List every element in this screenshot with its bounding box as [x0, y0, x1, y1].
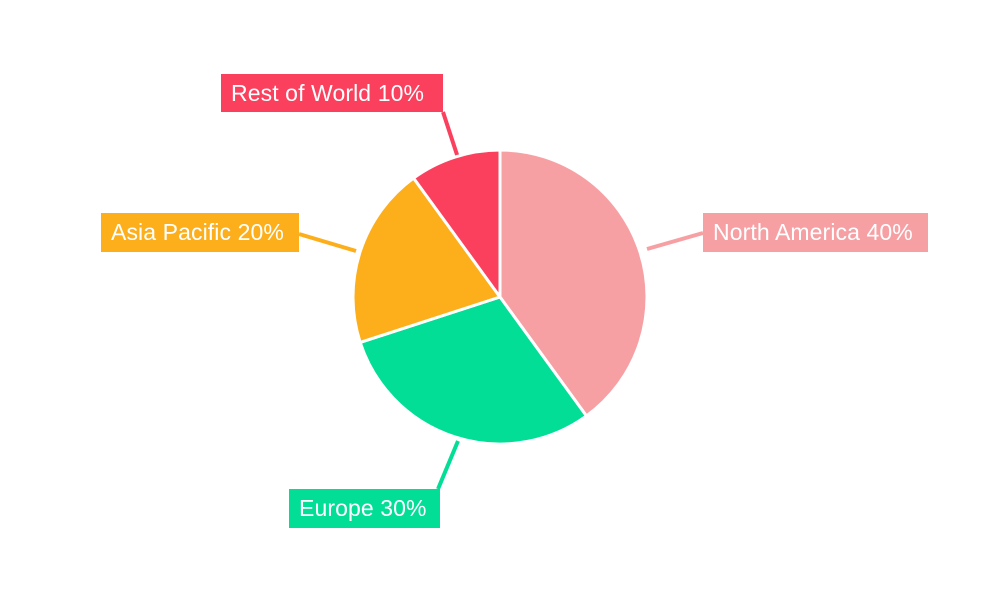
leader-line-asia-pacific — [299, 234, 356, 251]
pie-label-europe-text: Europe 30% — [299, 497, 427, 520]
pie-slices-group — [353, 150, 647, 444]
pie-label-rest-of-world[interactable]: Rest of World 10% — [221, 74, 443, 112]
pie-label-rest-of-world-text: Rest of World 10% — [231, 82, 424, 105]
pie-label-asia-pacific-text: Asia Pacific 20% — [111, 221, 284, 244]
pie-label-north-america[interactable]: North America 40% — [703, 213, 928, 252]
pie-chart-canvas — [0, 0, 1000, 600]
pie-chart-figure: North America 40% Europe 30% Asia Pacifi… — [0, 0, 1000, 600]
leader-line-europe — [438, 441, 458, 489]
leader-line-north-america — [647, 233, 703, 249]
pie-label-asia-pacific[interactable]: Asia Pacific 20% — [101, 213, 299, 252]
pie-label-europe[interactable]: Europe 30% — [289, 489, 440, 528]
pie-label-north-america-text: North America 40% — [713, 221, 913, 244]
